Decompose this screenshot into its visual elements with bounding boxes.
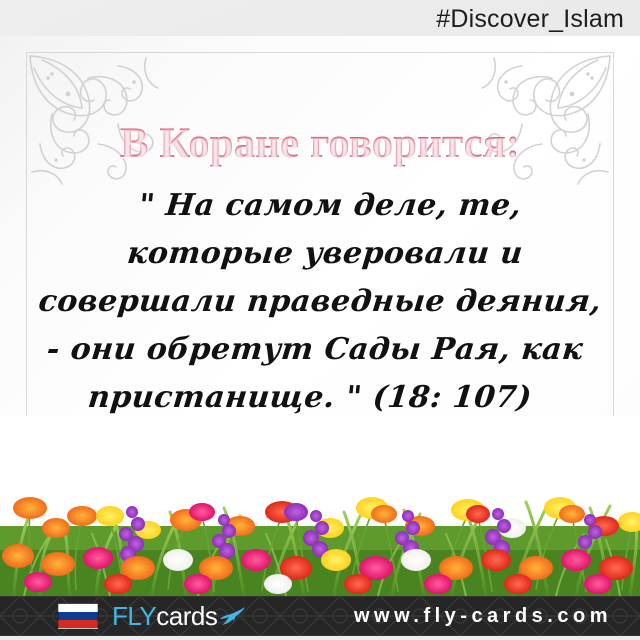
footer-bar: FLYcards www.fly-cards.com [0, 596, 640, 636]
brand-fly-text: FLY [112, 601, 156, 631]
quote-text: " На самом деле, те, которые уверовали и… [13, 182, 626, 422]
bird-icon [219, 605, 247, 627]
website-url[interactable]: www.fly-cards.com [354, 604, 612, 628]
quote-line: пристанище. " (18: 107) [13, 374, 606, 422]
quote-line: которые уверовали и [29, 230, 622, 278]
russian-flag-icon [58, 603, 98, 629]
quote-line: - они обретут Сады Рая, как [18, 326, 611, 374]
blossom-layer [0, 416, 640, 596]
quote-line: совершали праведные деяния, [23, 278, 616, 326]
hashtag-label: #Discover_Islam [436, 4, 624, 34]
greeting-card: #Discover_Islam [0, 0, 640, 640]
footer-baseline [0, 636, 640, 640]
brand-cards-text: cards [156, 601, 217, 631]
page-title: В Коране говорится: [0, 118, 640, 170]
flower-meadow-photo [0, 416, 640, 596]
brand-logo[interactable]: FLYcards [112, 601, 217, 631]
quote-line: " На самом деле, те, [34, 182, 627, 230]
